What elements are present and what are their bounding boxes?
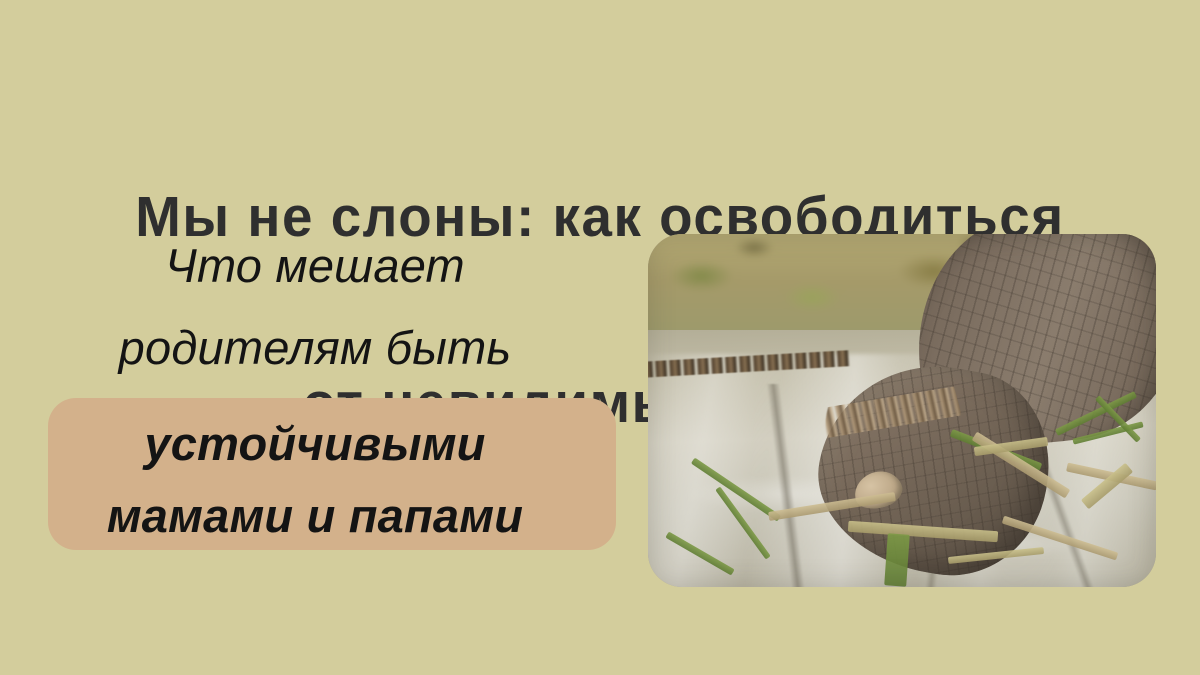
subtitle-line-3: устойчивыми — [0, 418, 630, 470]
grass-blade — [884, 533, 910, 586]
subtitle-line-4: мамами и папами — [0, 490, 630, 542]
elephant-chained-foot-photo — [648, 234, 1156, 587]
subtitle-line-1: Что мешает — [0, 240, 630, 292]
subtitle-line-2: родителям быть — [0, 322, 630, 374]
promo-card: Мы не слоны: как освободиться от невидим… — [0, 0, 1200, 675]
subtitle-block: Что мешает родителям быть устойчивыми ма… — [0, 232, 630, 562]
